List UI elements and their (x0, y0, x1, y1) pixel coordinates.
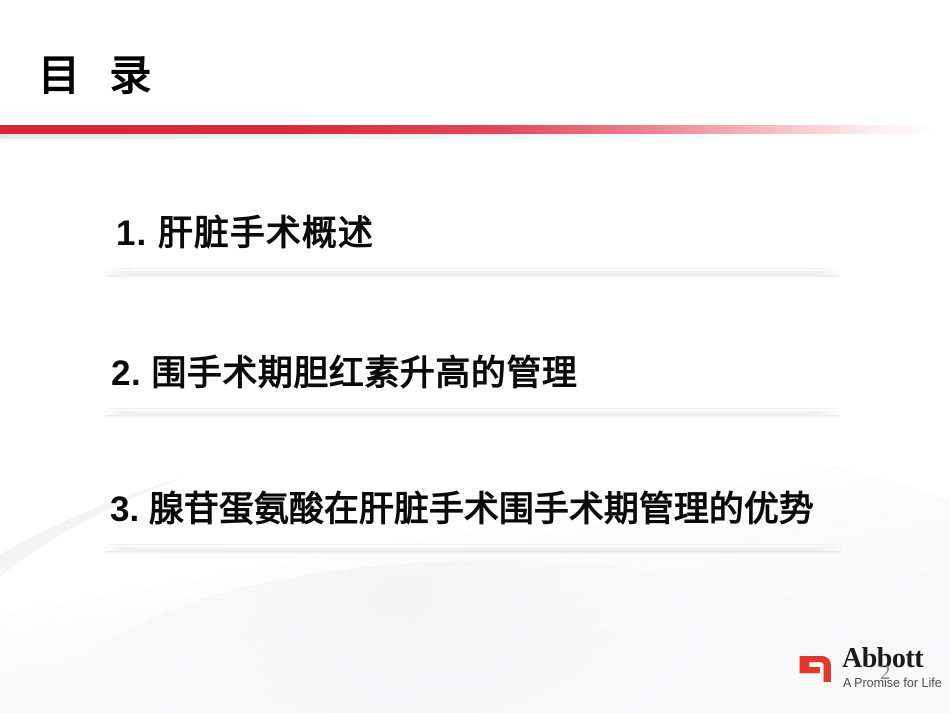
agenda-item-1-underline (105, 268, 840, 275)
agenda-item-1-label: 1. 肝脏手术概述 (116, 215, 374, 254)
agenda-item-3-underline (105, 544, 840, 551)
agenda-item-3-label: 3. 腺苷蛋氨酸在肝脏手术围手术期管理的优势 (110, 491, 814, 530)
agenda-item-2-label: 2. 围手术期胆红素升高的管理 (111, 355, 577, 394)
page-title: 目 录 (38, 54, 153, 98)
slide-canvas: 目 录 1. 肝脏手术概述 2. 围手术期胆红素升高的管理 3. 腺苷蛋氨酸在肝… (0, 0, 950, 713)
agenda-item-2-underline (105, 408, 840, 415)
abbott-a-icon (797, 648, 833, 684)
title-divider-rule (0, 125, 950, 134)
title-divider-shadow (0, 134, 950, 139)
abbott-logo: Abbott A Promise for Life (797, 647, 943, 693)
abbott-tagline: A Promise for Life (843, 676, 942, 690)
page-number: 2 (880, 660, 891, 685)
